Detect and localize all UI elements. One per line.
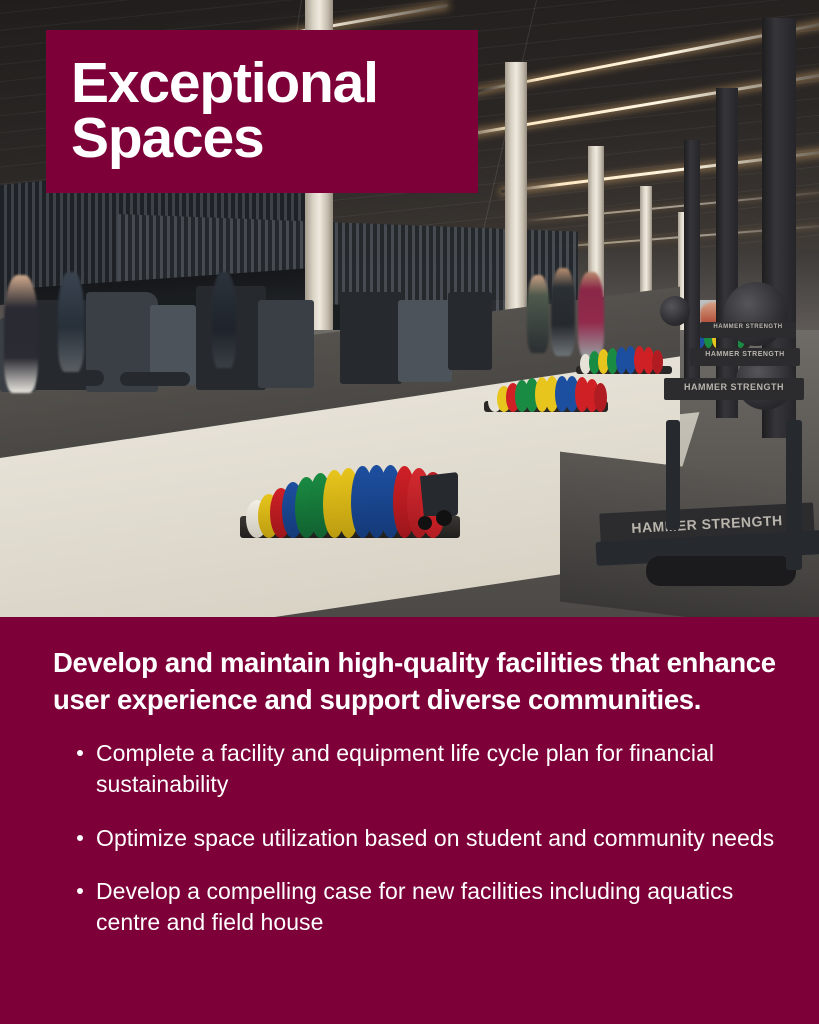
bullet-dot-icon: [77, 835, 83, 841]
equipment-brand-label: HAMMER STRENGTH: [664, 382, 804, 392]
rack-wheel: [418, 516, 432, 530]
person-figure: [551, 268, 575, 356]
bench-pad: [646, 556, 796, 586]
panel-heading: Develop and maintain high-quality facili…: [53, 645, 789, 718]
list-item: Complete a facility and equipment life c…: [53, 738, 789, 801]
title-box: Exceptional Spaces: [46, 30, 478, 193]
rack-handle: [420, 472, 458, 516]
plate-rack-mid: [484, 362, 608, 412]
plate-rack-foreground: [240, 438, 460, 538]
weight-plate-stack: [660, 296, 690, 326]
power-rack-upright: [716, 88, 738, 418]
gym-machine: [340, 292, 402, 384]
bullet-dot-icon: [77, 750, 83, 756]
list-item: Develop a compelling case for new facili…: [53, 876, 789, 939]
person-figure: [4, 275, 38, 393]
gym-bench: [44, 370, 104, 386]
gym-machine: [448, 292, 492, 370]
weight-plate: [594, 383, 607, 412]
title-line-2: Spaces: [71, 106, 263, 170]
hammer-strength-bench: HAMMER STRENGTH: [700, 322, 796, 338]
weight-plate: [652, 350, 663, 374]
person-figure: [58, 272, 84, 372]
list-item-label: Optimize space utilization based on stud…: [96, 825, 774, 851]
list-item-label: Complete a facility and equipment life c…: [96, 740, 714, 797]
exceptional-spaces-card: HAMMER STRENGTH HAMMER STRENGTH HAMMER S…: [0, 0, 819, 1024]
gym-interior-photo: HAMMER STRENGTH HAMMER STRENGTH HAMMER S…: [0, 0, 819, 617]
content-panel: Develop and maintain high-quality facili…: [0, 617, 819, 1024]
hammer-strength-bench: HAMMER STRENGTH: [664, 378, 804, 400]
gym-machine: [398, 300, 452, 382]
bullet-dot-icon: [77, 888, 83, 894]
bench-leg: [666, 420, 680, 530]
page-title: Exceptional Spaces: [71, 56, 454, 167]
bench-leg: [786, 420, 802, 570]
gym-bench: [120, 372, 190, 386]
gym-machine: [258, 300, 314, 388]
equipment-brand-label: HAMMER STRENGTH: [700, 324, 796, 330]
list-item: Optimize space utilization based on stud…: [53, 823, 789, 854]
equipment-brand-label: HAMMER STRENGTH: [690, 351, 800, 358]
objectives-list: Complete a facility and equipment life c…: [53, 738, 789, 938]
person-figure: [212, 272, 236, 368]
list-item-label: Develop a compelling case for new facili…: [96, 878, 733, 935]
hammer-strength-bench: HAMMER STRENGTH: [690, 348, 800, 366]
person-figure: [527, 275, 549, 353]
rack-wheel: [436, 510, 452, 526]
